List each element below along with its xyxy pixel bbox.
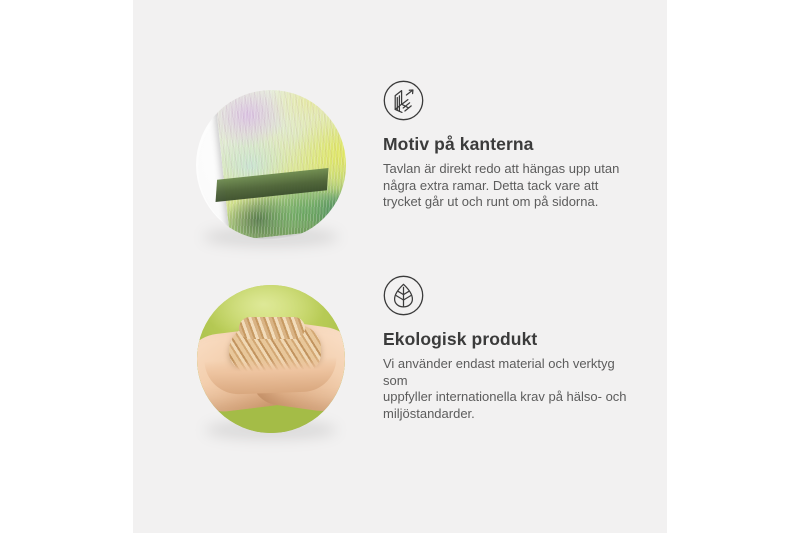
hands-wood-chips-thumbnail [197, 285, 345, 433]
product-info-page: Motiv på kanterna Tavlan är direkt redo … [0, 0, 800, 533]
canvas-print-abstract-thumbnail [196, 90, 346, 240]
canvas-slab [215, 90, 346, 240]
canvas-wrapped-edge-icon [383, 80, 424, 121]
leaf-icon [383, 275, 424, 316]
feature-description: Vi använder endast material och verktyg … [383, 356, 641, 422]
feature-description-line: miljöstandarder. [383, 406, 475, 421]
feature-eco-content: Ekologisk produkt Vi använder endast mat… [383, 275, 649, 422]
feature-description-line: uppfyller internationella krav på hälso-… [383, 389, 627, 404]
feature-title: Ekologisk produkt [383, 329, 649, 350]
canvas-print-artwork [196, 90, 346, 240]
feature-description-line: Vi använder endast material och verktyg … [383, 356, 615, 388]
feature-title: Motiv på kanterna [383, 134, 649, 155]
hands-wood-chips-photo [197, 285, 345, 433]
feature-description-line: Tavlan är direkt redo att hängas upp uta… [383, 161, 619, 176]
content-panel: Motiv på kanterna Tavlan är direkt redo … [133, 0, 667, 533]
feature-edges-content: Motiv på kanterna Tavlan är direkt redo … [383, 80, 649, 211]
feature-description-line: trycket går ut och runt om på sidorna. [383, 194, 598, 209]
feature-description-line: några extra ramar. Detta tack vare att [383, 178, 598, 193]
feature-description: Tavlan är direkt redo att hängas upp uta… [383, 161, 641, 211]
paint-drip-texture [215, 90, 346, 240]
